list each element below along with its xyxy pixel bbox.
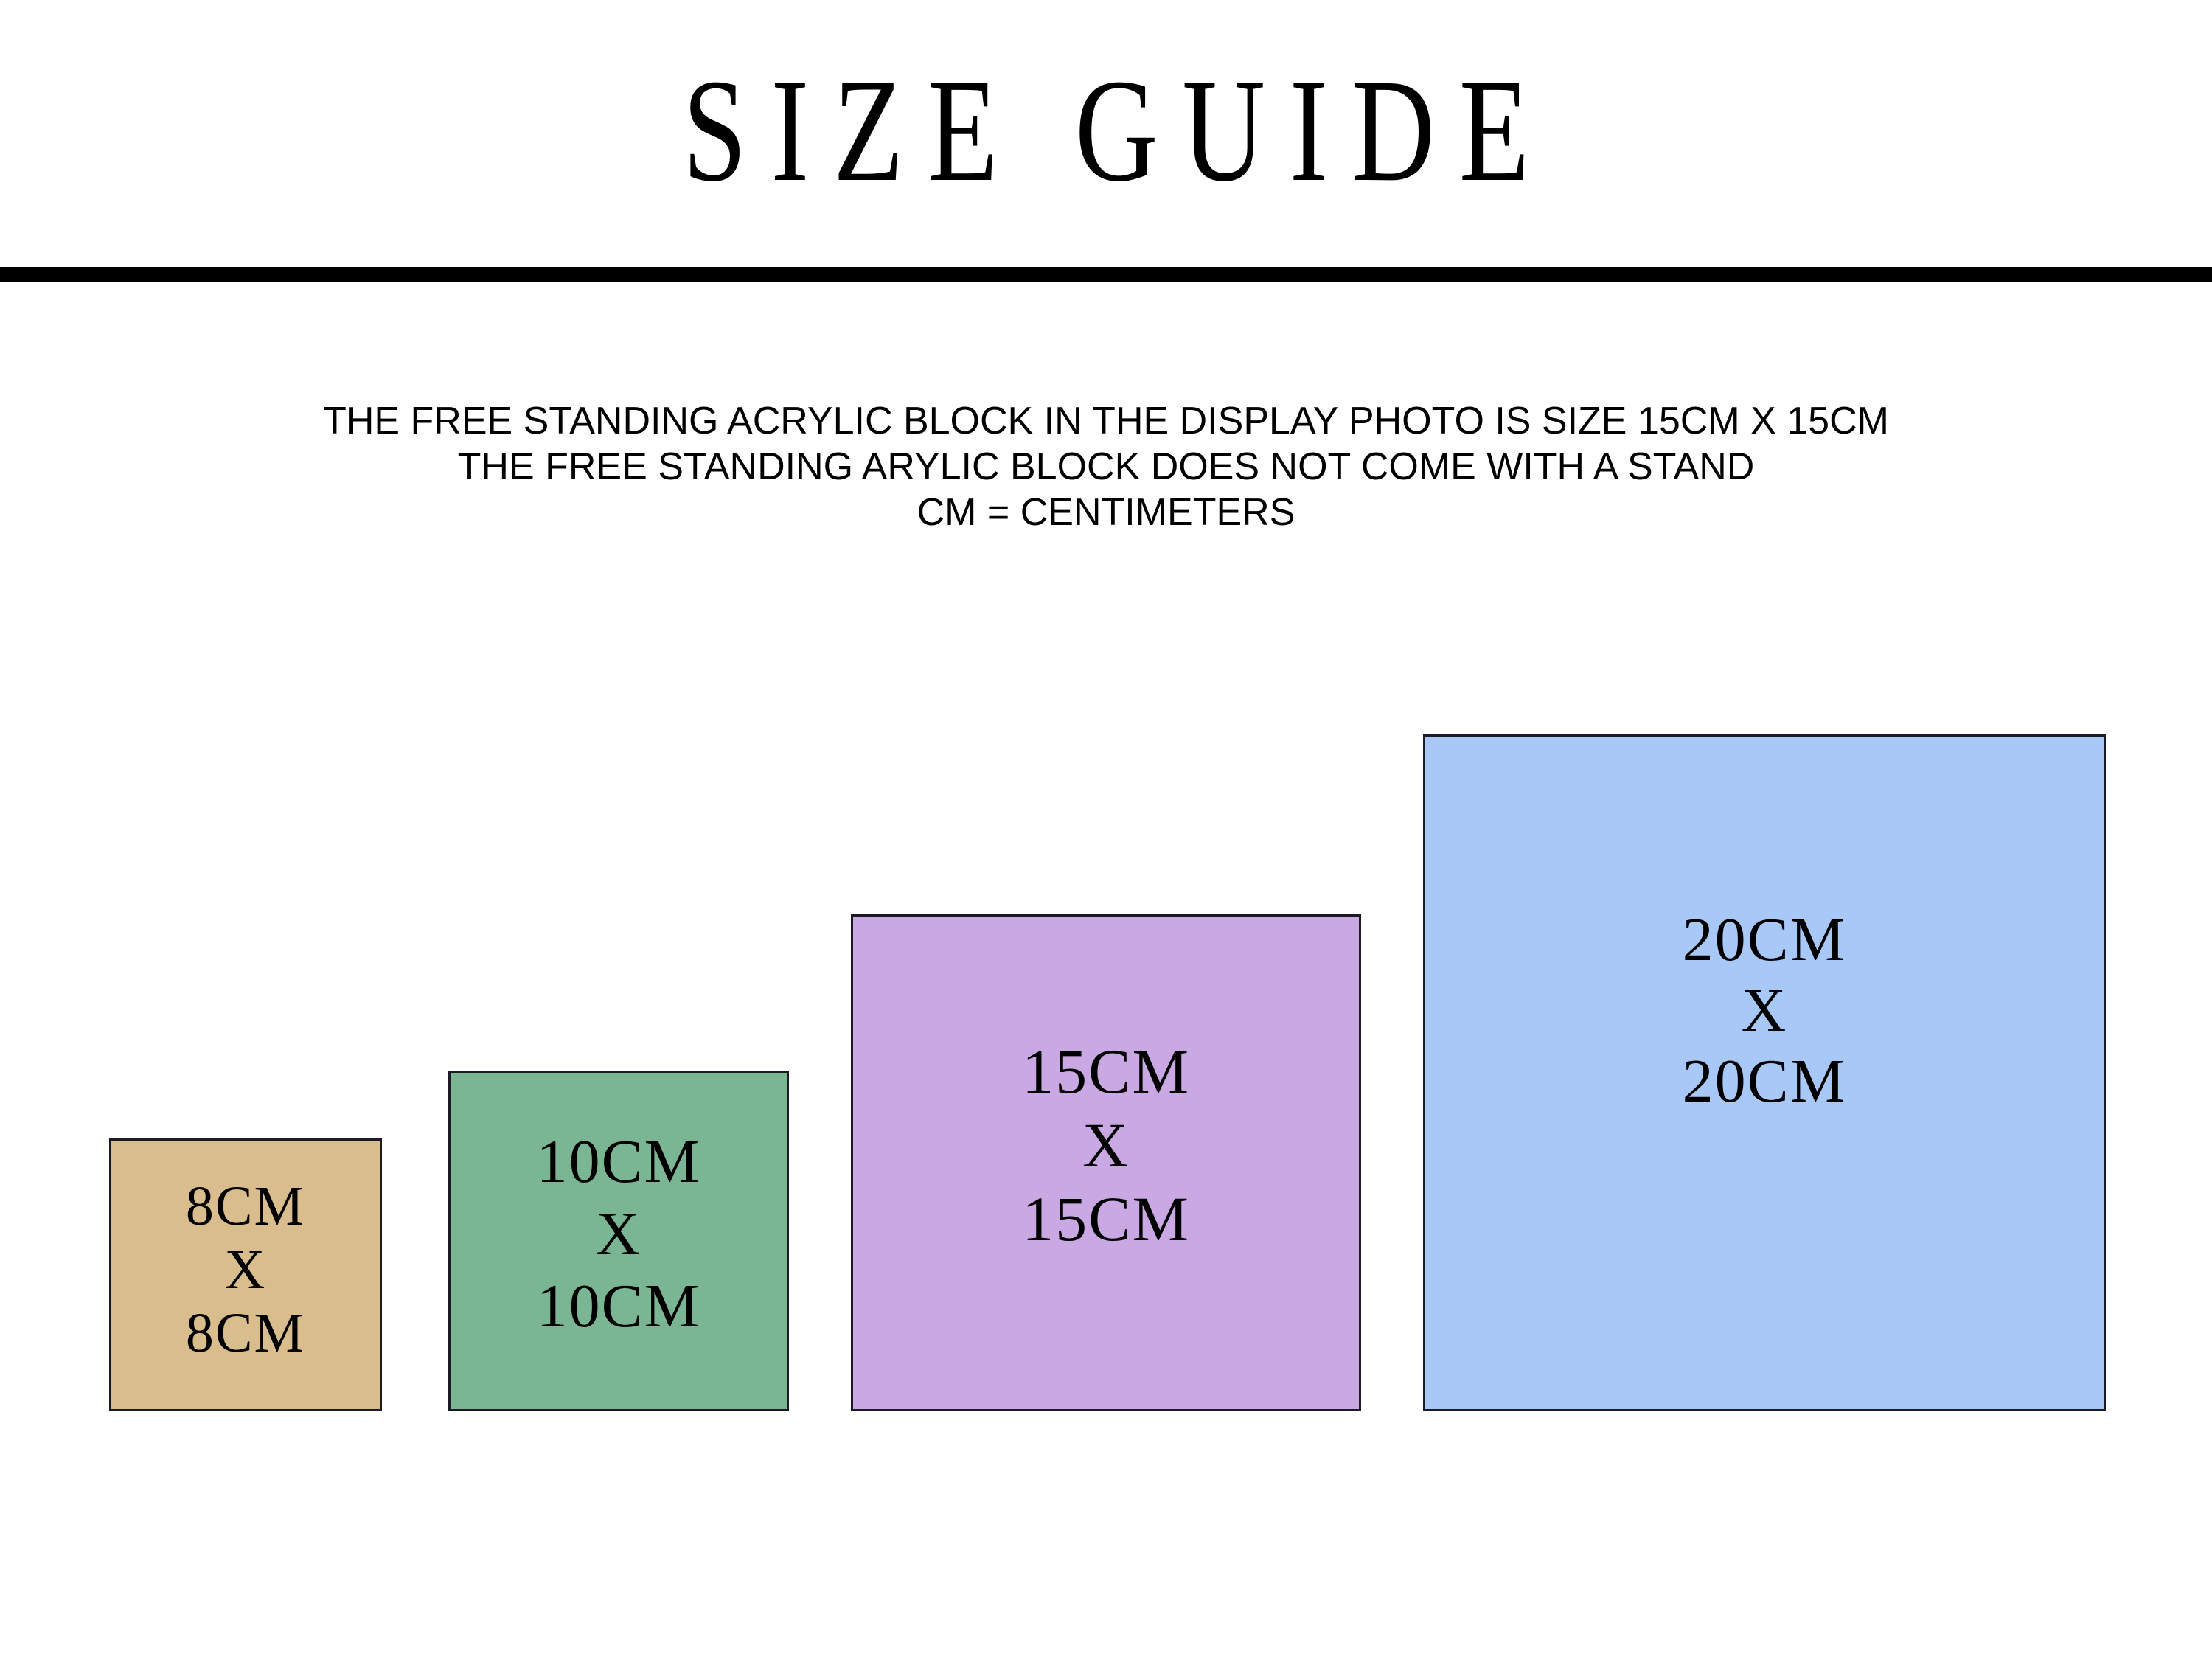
swatch-20cm-height-label: 20CM bbox=[1683, 1046, 1847, 1117]
swatch-10cm-separator: X bbox=[596, 1198, 642, 1270]
size-swatch-15cm: 15CM X 15CM bbox=[851, 914, 1361, 1411]
swatch-8cm-separator: X bbox=[225, 1238, 267, 1301]
swatch-20cm-separator: X bbox=[1742, 975, 1788, 1046]
size-swatch-10cm: 10CM X 10CM bbox=[448, 1071, 789, 1411]
swatch-10cm-width-label: 10CM bbox=[537, 1126, 701, 1198]
size-guide-page: SIZE GUIDE THE FREE STANDING ACRYLIC BLO… bbox=[0, 0, 2212, 1659]
size-swatch-20cm: 20CM X 20CM bbox=[1423, 734, 2106, 1411]
swatch-8cm-width-label: 8CM bbox=[186, 1175, 305, 1238]
swatch-15cm-height-label: 15CM bbox=[1022, 1182, 1190, 1256]
swatch-10cm-height-label: 10CM bbox=[537, 1270, 701, 1343]
swatch-15cm-separator: X bbox=[1082, 1108, 1130, 1182]
size-swatch-row: 8CM X 8CM 10CM X 10CM 15CM X 15CM 20CM X… bbox=[0, 0, 2212, 1659]
swatch-8cm-height-label: 8CM bbox=[186, 1301, 305, 1365]
swatch-15cm-width-label: 15CM bbox=[1022, 1034, 1190, 1108]
swatch-20cm-width-label: 20CM bbox=[1683, 905, 1847, 975]
size-swatch-8cm: 8CM X 8CM bbox=[109, 1138, 382, 1411]
